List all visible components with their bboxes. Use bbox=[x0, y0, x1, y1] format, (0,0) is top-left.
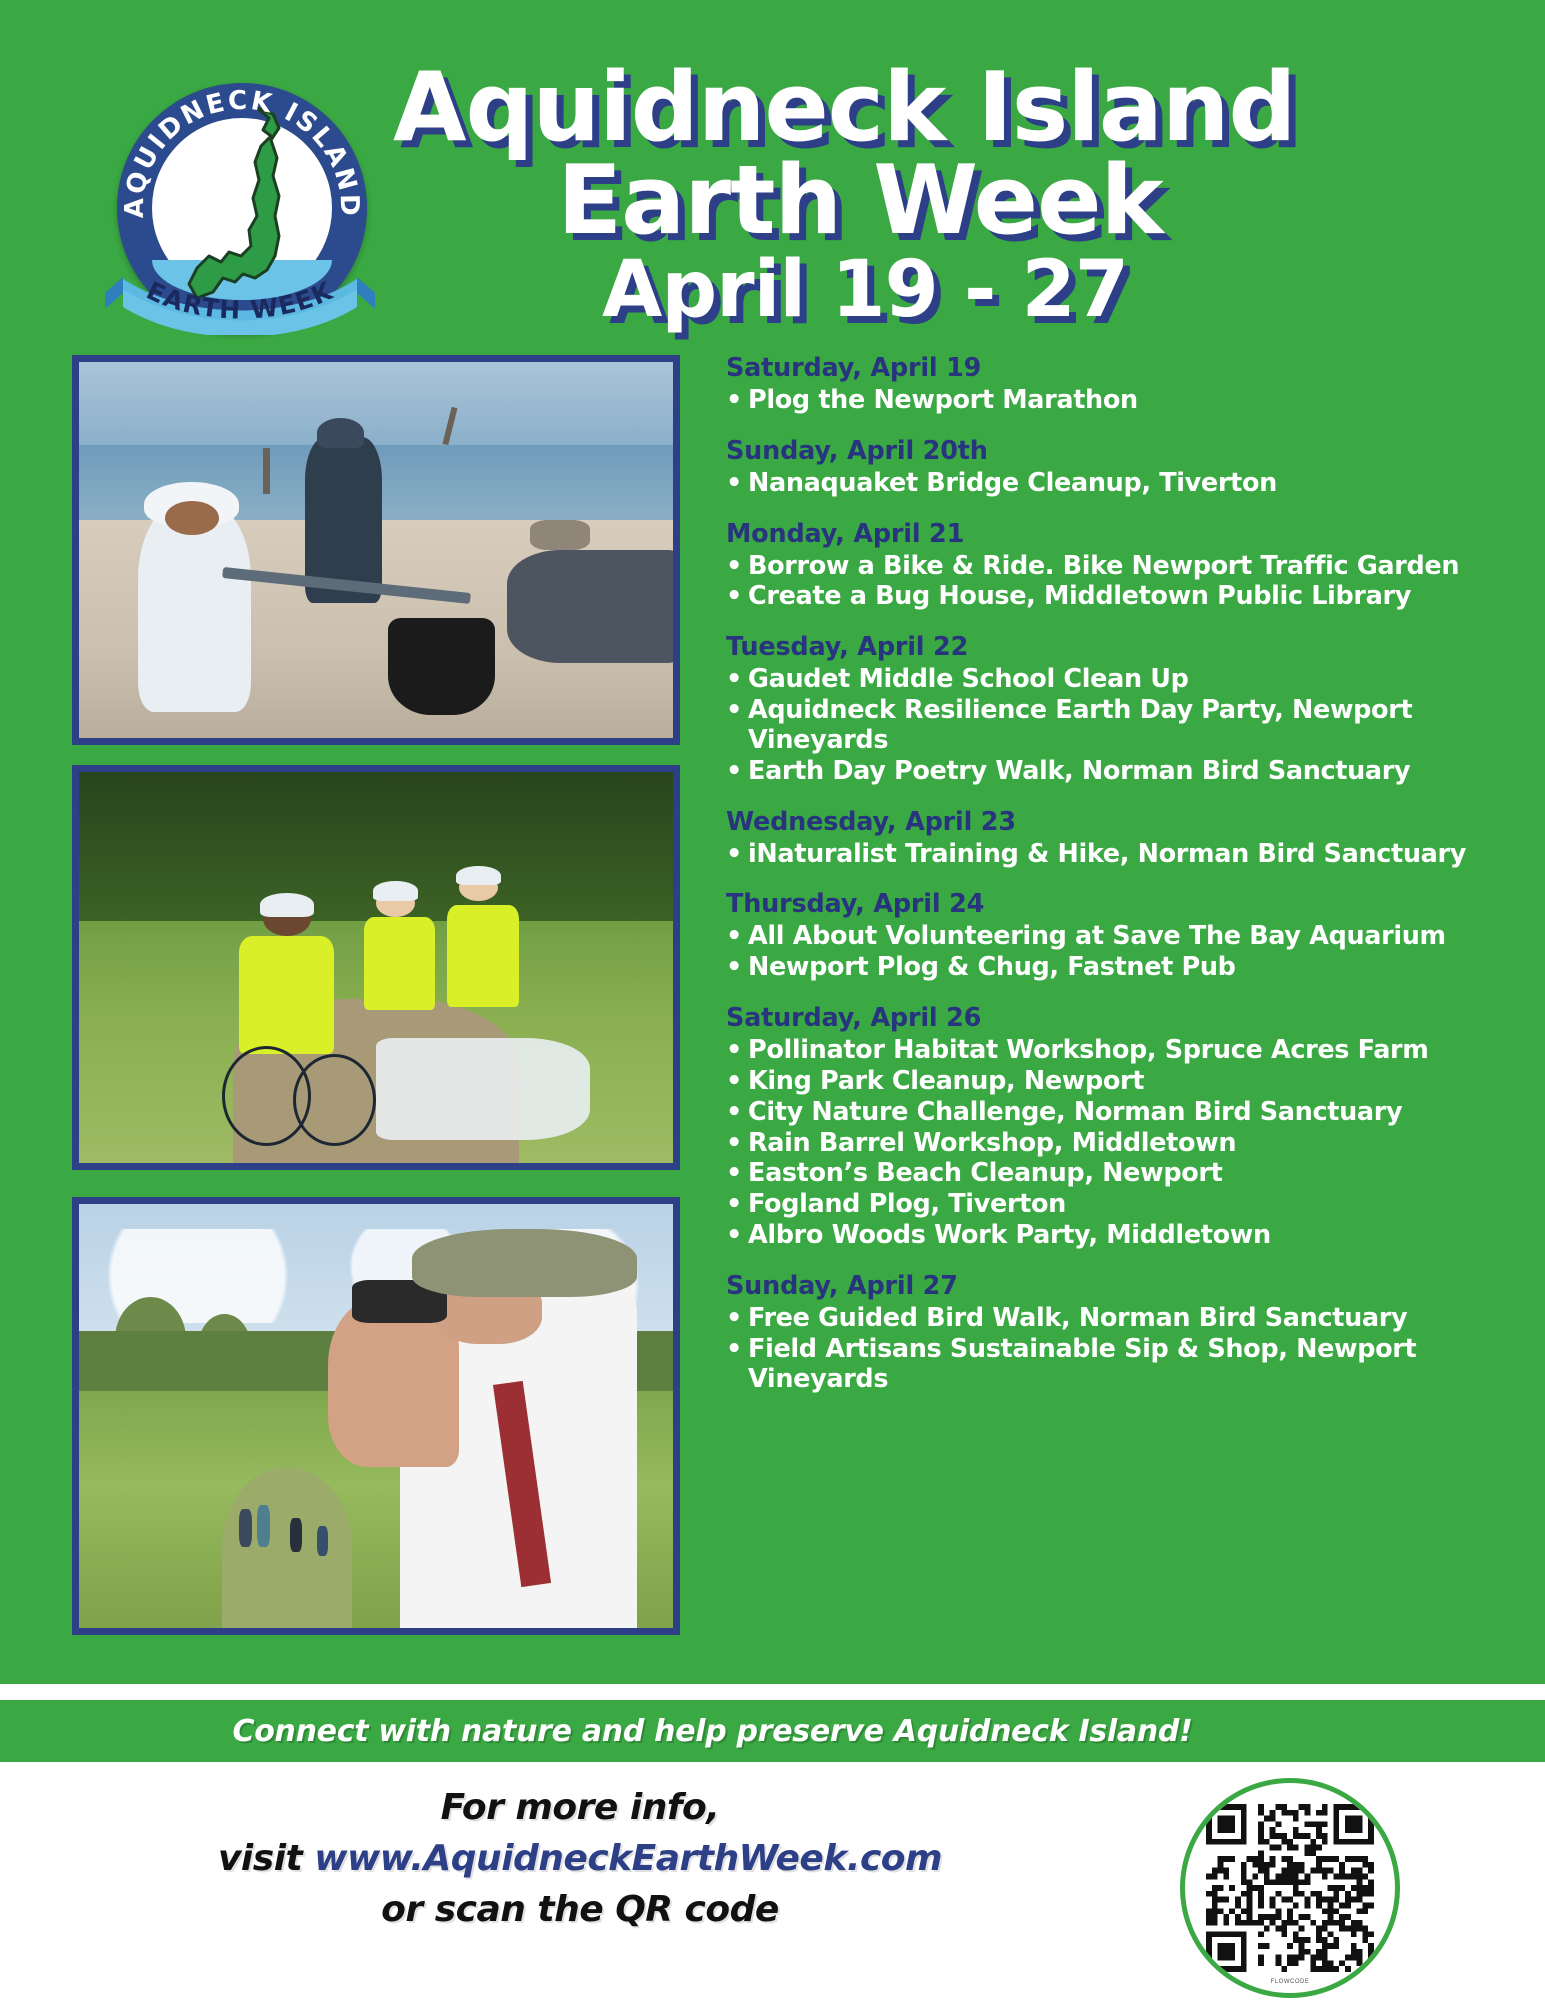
bullet-icon: • bbox=[726, 1098, 748, 1128]
poster-canvas: AQUIDNECK ISLAND EARTH WEEK Aquidneck Is… bbox=[0, 0, 1545, 2000]
bullet-icon: • bbox=[726, 1335, 748, 1365]
bullet-icon: • bbox=[726, 1067, 748, 1097]
event-label: Albro Woods Work Party, Middletown bbox=[748, 1220, 1271, 1250]
title-line-1: Aquidneck Island bbox=[385, 62, 1485, 155]
qr-code[interactable]: FLOWCODE bbox=[1180, 1778, 1400, 1998]
photo-kids-bikes bbox=[72, 765, 680, 1170]
event-item: •Borrow a Bike & Ride. Bike Newport Traf… bbox=[726, 552, 1516, 582]
bullet-icon: • bbox=[726, 840, 748, 870]
event-item: •Earth Day Poetry Walk, Norman Bird Sanc… bbox=[726, 757, 1516, 787]
event-item: •Create a Bug House, Middletown Public L… bbox=[726, 582, 1516, 612]
day-heading: Tuesday, April 22 bbox=[726, 632, 1516, 662]
event-item: •Field Artisans Sustainable Sip & Shop, … bbox=[726, 1335, 1516, 1395]
poster-title: Aquidneck Island Earth Week April 19 - 2… bbox=[385, 62, 1485, 329]
bullet-icon: • bbox=[726, 386, 748, 416]
event-item: •Easton’s Beach Cleanup, Newport bbox=[726, 1159, 1516, 1189]
poster-footer: Connect with nature and help preserve Aq… bbox=[0, 1700, 1545, 2000]
day-block: Monday, April 21•Borrow a Bike & Ride. B… bbox=[726, 519, 1516, 613]
event-label: Field Artisans Sustainable Sip & Shop, N… bbox=[748, 1334, 1416, 1394]
day-block: Saturday, April 26•Pollinator Habitat Wo… bbox=[726, 1003, 1516, 1251]
bullet-icon: • bbox=[726, 1159, 748, 1189]
bullet-icon: • bbox=[726, 922, 748, 952]
day-heading: Thursday, April 24 bbox=[726, 889, 1516, 919]
day-block: Thursday, April 24•All About Volunteerin… bbox=[726, 889, 1516, 983]
day-heading: Saturday, April 19 bbox=[726, 353, 1516, 383]
event-label: Gaudet Middle School Clean Up bbox=[748, 664, 1189, 694]
event-item: •Aquidneck Resilience Earth Day Party, N… bbox=[726, 696, 1516, 756]
day-heading: Monday, April 21 bbox=[726, 519, 1516, 549]
event-label: Aquidneck Resilience Earth Day Party, Ne… bbox=[748, 695, 1412, 755]
event-item: •iNaturalist Training & Hike, Norman Bir… bbox=[726, 840, 1516, 870]
bullet-icon: • bbox=[726, 469, 748, 499]
event-label: Earth Day Poetry Walk, Norman Bird Sanct… bbox=[748, 756, 1410, 786]
event-label: Fogland Plog, Tiverton bbox=[748, 1189, 1066, 1219]
event-label: Pollinator Habitat Workshop, Spruce Acre… bbox=[748, 1035, 1429, 1065]
poster-header: AQUIDNECK ISLAND EARTH WEEK Aquidneck Is… bbox=[0, 0, 1545, 345]
footer-visit-line: visit www.AquidneckEarthWeek.com bbox=[0, 1833, 1160, 1884]
day-block: Tuesday, April 22•Gaudet Middle School C… bbox=[726, 632, 1516, 786]
event-item: •Nanaquaket Bridge Cleanup, Tiverton bbox=[726, 469, 1516, 499]
poster-body: Saturday, April 19•Plog the Newport Mara… bbox=[0, 345, 1545, 1700]
day-heading: Sunday, April 27 bbox=[726, 1271, 1516, 1301]
bullet-icon: • bbox=[726, 1190, 748, 1220]
website-url-link[interactable]: www.AquidneckEarthWeek.com bbox=[314, 1838, 942, 1879]
event-label: All About Volunteering at Save The Bay A… bbox=[748, 921, 1446, 951]
day-heading: Sunday, April 20th bbox=[726, 436, 1516, 466]
earth-week-logo: AQUIDNECK ISLAND EARTH WEEK bbox=[95, 78, 385, 338]
bullet-icon: • bbox=[726, 1304, 748, 1334]
day-block: Wednesday, April 23•iNaturalist Training… bbox=[726, 807, 1516, 870]
event-item: •Pollinator Habitat Workshop, Spruce Acr… bbox=[726, 1036, 1516, 1066]
photo-beach-cleanup bbox=[72, 355, 680, 745]
bullet-icon: • bbox=[726, 696, 748, 726]
day-heading: Saturday, April 26 bbox=[726, 1003, 1516, 1033]
qr-code-graphic bbox=[1206, 1804, 1374, 1972]
footer-green-band: Connect with nature and help preserve Aq… bbox=[0, 1700, 1545, 1762]
event-item: •Newport Plog & Chug, Fastnet Pub bbox=[726, 953, 1516, 983]
event-item: •Fogland Plog, Tiverton bbox=[726, 1190, 1516, 1220]
bullet-icon: • bbox=[726, 1129, 748, 1159]
qr-caption: FLOWCODE bbox=[1185, 1979, 1395, 1985]
event-item: •Gaudet Middle School Clean Up bbox=[726, 665, 1516, 695]
photo-birdwatcher-field bbox=[72, 1197, 680, 1635]
bullet-icon: • bbox=[726, 665, 748, 695]
footer-scan-qr-label: or scan the QR code bbox=[0, 1884, 1160, 1935]
footer-tagline: Connect with nature and help preserve Aq… bbox=[233, 1714, 1193, 1749]
footer-visit-prefix: visit bbox=[218, 1838, 314, 1879]
event-label: Nanaquaket Bridge Cleanup, Tiverton bbox=[748, 468, 1277, 498]
footer-more-info-label: For more info, bbox=[0, 1782, 1160, 1833]
bullet-icon: • bbox=[726, 953, 748, 983]
title-line-2: Earth Week bbox=[385, 155, 1485, 248]
event-item: •Albro Woods Work Party, Middletown bbox=[726, 1221, 1516, 1251]
bullet-icon: • bbox=[726, 1036, 748, 1066]
event-item: •All About Volunteering at Save The Bay … bbox=[726, 922, 1516, 952]
event-item: •King Park Cleanup, Newport bbox=[726, 1067, 1516, 1097]
bullet-icon: • bbox=[726, 1221, 748, 1251]
event-label: King Park Cleanup, Newport bbox=[748, 1066, 1144, 1096]
day-block: Sunday, April 27•Free Guided Bird Walk, … bbox=[726, 1271, 1516, 1394]
event-item: •Plog the Newport Marathon bbox=[726, 386, 1516, 416]
day-block: Saturday, April 19•Plog the Newport Mara… bbox=[726, 353, 1516, 416]
bullet-icon: • bbox=[726, 552, 748, 582]
event-label: iNaturalist Training & Hike, Norman Bird… bbox=[748, 839, 1466, 869]
footer-info-block: For more info, visit www.AquidneckEarthW… bbox=[0, 1782, 1160, 1935]
event-label: Free Guided Bird Walk, Norman Bird Sanct… bbox=[748, 1303, 1407, 1333]
event-item: •Rain Barrel Workshop, Middletown bbox=[726, 1129, 1516, 1159]
event-label: City Nature Challenge, Norman Bird Sanct… bbox=[748, 1097, 1402, 1127]
event-schedule: Saturday, April 19•Plog the Newport Mara… bbox=[726, 353, 1516, 1414]
day-block: Sunday, April 20th•Nanaquaket Bridge Cle… bbox=[726, 436, 1516, 499]
event-label: Create a Bug House, Middletown Public Li… bbox=[748, 581, 1411, 611]
day-heading: Wednesday, April 23 bbox=[726, 807, 1516, 837]
bullet-icon: • bbox=[726, 582, 748, 612]
event-label: Newport Plog & Chug, Fastnet Pub bbox=[748, 952, 1236, 982]
title-line-3-dates: April 19 - 27 bbox=[385, 248, 1485, 328]
bullet-icon: • bbox=[726, 757, 748, 787]
logo-ribbon-banner: EARTH WEEK bbox=[95, 263, 385, 335]
event-item: •City Nature Challenge, Norman Bird Sanc… bbox=[726, 1098, 1516, 1128]
event-item: •Free Guided Bird Walk, Norman Bird Sanc… bbox=[726, 1304, 1516, 1334]
event-label: Borrow a Bike & Ride. Bike Newport Traff… bbox=[748, 551, 1459, 581]
event-label: Plog the Newport Marathon bbox=[748, 385, 1138, 415]
event-label: Easton’s Beach Cleanup, Newport bbox=[748, 1158, 1222, 1188]
event-label: Rain Barrel Workshop, Middletown bbox=[748, 1128, 1236, 1158]
